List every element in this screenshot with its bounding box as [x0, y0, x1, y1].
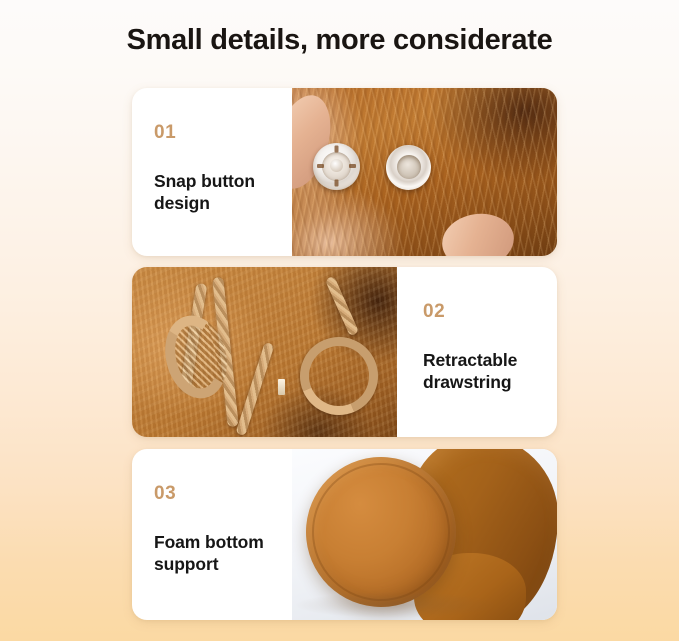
detail-card-snap-button: 01 Snap button design [132, 88, 557, 256]
drop-shadow [296, 592, 496, 618]
drawstring-photo [132, 267, 397, 437]
detail-card-drawstring: 02 Retractable drawstring [132, 267, 557, 437]
card-number: 03 [154, 483, 292, 505]
card-number: 02 [423, 301, 557, 323]
snap-notch [349, 164, 356, 168]
card-label: Snap button design [154, 170, 292, 215]
card-text-block: 03 Foam bottom support [132, 449, 292, 620]
snap-button-photo [292, 88, 557, 256]
snap-notch [335, 180, 339, 187]
snap-stud-half [386, 145, 431, 190]
snap-notch [317, 164, 324, 168]
card-text-block: 02 Retractable drawstring [397, 267, 557, 437]
page-title: Small details, more considerate [0, 24, 679, 57]
card-text-block: 01 Snap button design [132, 88, 292, 256]
detail-card-foam-bottom: 03 Foam bottom support [132, 449, 557, 620]
fabric-tag [278, 379, 285, 395]
card-number: 01 [154, 122, 292, 144]
card-label: Foam bottom support [154, 531, 292, 576]
drawstring-loop [166, 315, 226, 399]
snap-socket-half [313, 143, 360, 190]
foam-bottom-photo [292, 449, 557, 620]
snap-notch [335, 146, 339, 153]
card-label: Retractable drawstring [423, 349, 557, 394]
